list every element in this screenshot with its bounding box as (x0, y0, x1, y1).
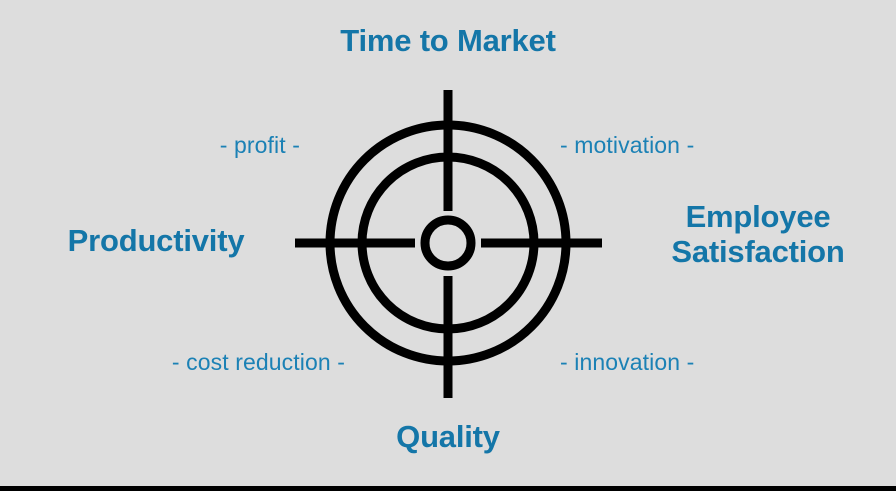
label-motivation: - motivation - (560, 133, 760, 159)
target-bullseye (425, 220, 471, 266)
label-time-to-market: Time to Market (0, 24, 896, 59)
label-cost-reduction: - cost reduction - (95, 350, 345, 376)
bottom-divider (0, 486, 896, 491)
label-profit: - profit - (130, 133, 300, 159)
diagram-canvas: Time to Market Employee Satisfaction Qua… (0, 0, 896, 491)
label-quality: Quality (0, 420, 896, 455)
label-employee-satisfaction: Employee Satisfaction (636, 200, 880, 269)
label-productivity: Productivity (36, 224, 276, 259)
label-innovation: - innovation - (560, 350, 770, 376)
